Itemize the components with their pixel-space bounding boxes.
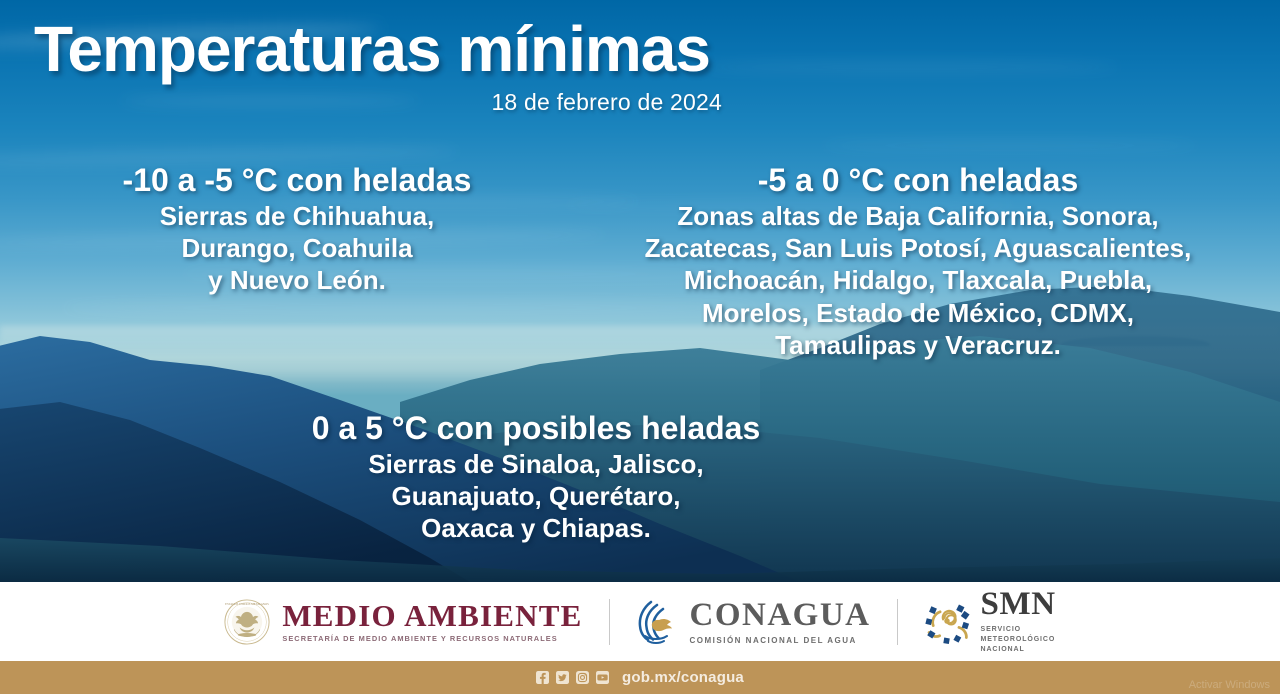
forecast-block-right: -5 a 0 °C con heladas Zonas altas de Baj… (612, 160, 1224, 361)
smn-subtitle-line: METEOROLÓGICO (981, 635, 1056, 645)
smn-subtitle-line: NACIONAL (981, 645, 1056, 655)
place-line: Zacatecas, San Luis Potosí, Aguascalient… (612, 233, 1224, 264)
forecast-block-left: -10 a -5 °C con heladas Sierras de Chihu… (92, 160, 502, 297)
place-line: Michoacán, Hidalgo, Tlaxcala, Puebla, (612, 265, 1224, 296)
forecast-block-center: 0 a 5 °C con posibles heladas Sierras de… (264, 408, 808, 545)
logo-divider (609, 599, 610, 645)
conagua-text: CONAGUA COMISIÓN NACIONAL DEL AGUA (690, 599, 871, 645)
temperature-range-left: -10 a -5 °C con heladas (92, 160, 502, 200)
smn-title: SMN (981, 588, 1056, 621)
instagram-icon[interactable] (576, 671, 589, 684)
smn-text: SMN SERVICIO METEOROLÓGICO NACIONAL (981, 588, 1056, 655)
agency-logo-bar: ESTADOS UNIDOS MEXICANOS MEDIO AMBIENTE … (0, 582, 1280, 661)
smn-subtitle-line: SERVICIO (981, 625, 1056, 635)
medio-ambiente-subtitle: SECRETARÍA DE MEDIO AMBIENTE Y RECURSOS … (282, 635, 582, 642)
place-line: y Nuevo León. (92, 265, 502, 296)
place-line: Tamaulipas y Veracruz. (612, 330, 1224, 361)
mexican-coat-of-arms-icon: ESTADOS UNIDOS MEXICANOS (224, 599, 270, 645)
place-line: Durango, Coahuila (92, 233, 502, 264)
places-list-center: Sierras de Sinaloa, Jalisco, Guanajuato,… (264, 449, 808, 545)
logo-medio-ambiente: ESTADOS UNIDOS MEXICANOS MEDIO AMBIENTE … (224, 599, 582, 645)
temperature-range-right: -5 a 0 °C con heladas (612, 160, 1224, 200)
place-line: Morelos, Estado de México, CDMX, (612, 298, 1224, 329)
forecast-date: 18 de febrero de 2024 (34, 89, 774, 116)
place-line: Guanajuato, Querétaro, (264, 481, 808, 512)
facebook-icon[interactable] (536, 671, 549, 684)
place-line: Oaxaca y Chiapas. (264, 513, 808, 544)
smn-spiral-icon (924, 598, 970, 644)
conagua-wave-eagle-icon (636, 598, 678, 646)
place-line: Sierras de Chihuahua, (92, 201, 502, 232)
places-list-right: Zonas altas de Baja California, Sonora, … (612, 201, 1224, 361)
logo-conagua: CONAGUA COMISIÓN NACIONAL DEL AGUA (636, 598, 871, 646)
cloud-streak-icon (820, 140, 1200, 151)
medio-ambiente-title: MEDIO AMBIENTE (282, 600, 582, 631)
conagua-subtitle: COMISIÓN NACIONAL DEL AGUA (690, 636, 871, 645)
places-list-left: Sierras de Chihuahua, Durango, Coahuila … (92, 201, 502, 297)
poster-header: Temperaturas mínimas 18 de febrero de 20… (34, 16, 774, 116)
conagua-title: CONAGUA (690, 599, 871, 632)
social-bottom-bar: gob.mx/conagua (0, 661, 1280, 694)
youtube-icon[interactable] (596, 671, 609, 684)
logo-smn: SMN SERVICIO METEOROLÓGICO NACIONAL (924, 588, 1056, 655)
place-line: Zonas altas de Baja California, Sonora, (612, 201, 1224, 232)
medio-ambiente-text: MEDIO AMBIENTE SECRETARÍA DE MEDIO AMBIE… (282, 600, 582, 642)
page-title: Temperaturas mínimas (34, 16, 774, 83)
weather-infographic-poster: Temperaturas mínimas 18 de febrero de 20… (0, 0, 1280, 694)
social-icon-group (536, 671, 609, 684)
smn-subtitle: SERVICIO METEOROLÓGICO NACIONAL (981, 625, 1056, 655)
website-url[interactable]: gob.mx/conagua (622, 669, 744, 686)
twitter-icon[interactable] (556, 671, 569, 684)
place-line: Sierras de Sinaloa, Jalisco, (264, 449, 808, 480)
logo-divider (897, 599, 898, 645)
svg-text:ESTADOS UNIDOS MEXICANOS: ESTADOS UNIDOS MEXICANOS (225, 601, 269, 605)
temperature-range-center: 0 a 5 °C con posibles heladas (264, 408, 808, 448)
